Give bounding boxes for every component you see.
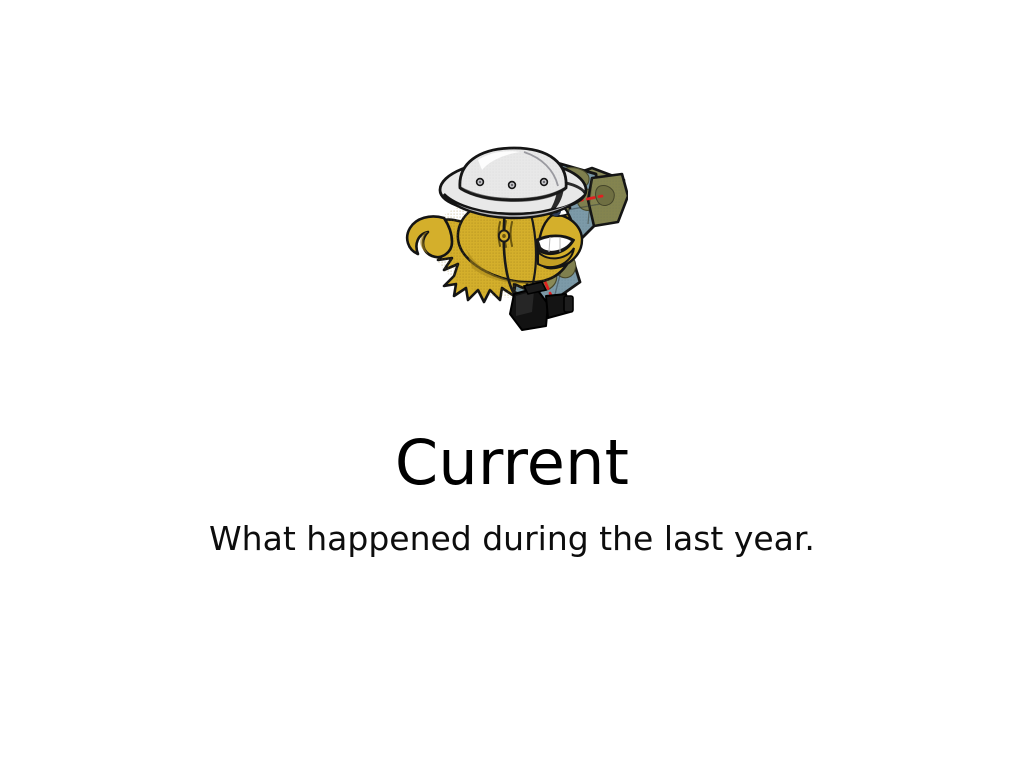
- safari-hat: [440, 148, 586, 218]
- puffy-tourist-illustration: [396, 144, 628, 336]
- slide-title: Current: [0, 430, 1024, 497]
- slide-subtitle: What happened during the last year.: [0, 520, 1024, 559]
- slide: Current What happened during the last ye…: [0, 0, 1024, 768]
- puffy-tourist-svg: [396, 144, 628, 336]
